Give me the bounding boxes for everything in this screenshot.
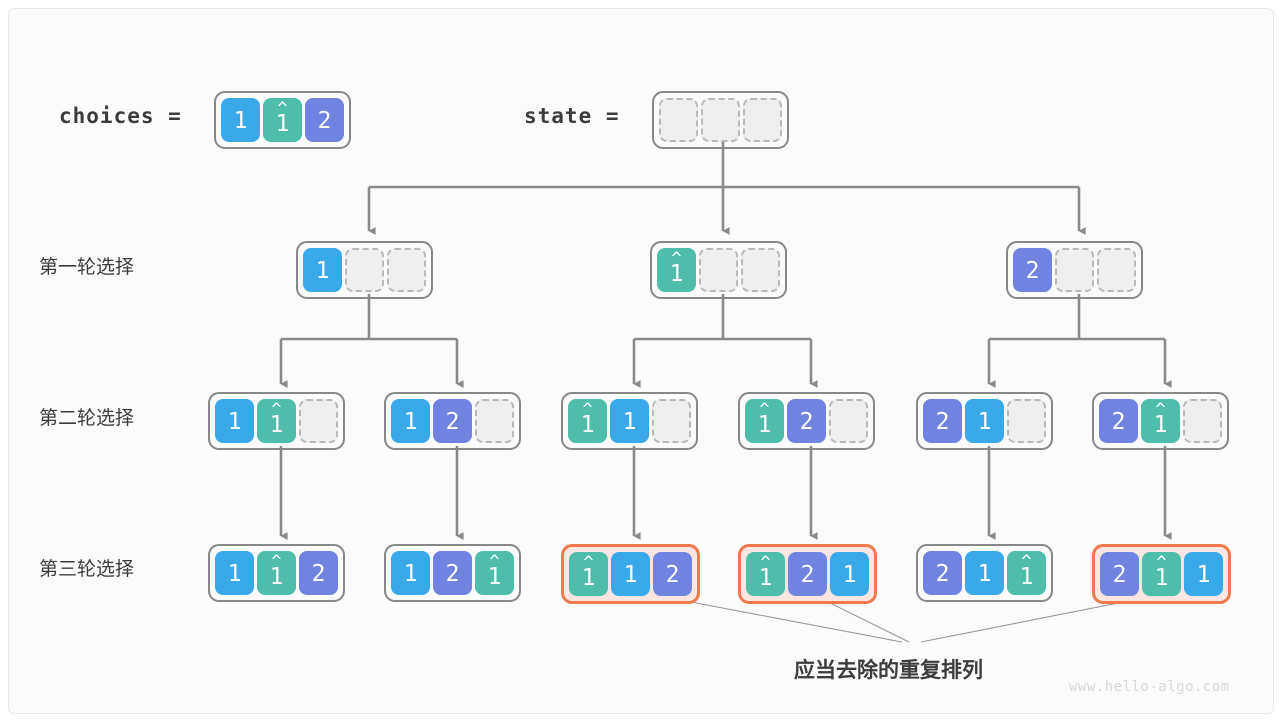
array-cell-value: 2 bbox=[936, 411, 950, 434]
array-cell-hat-1: ^1 bbox=[746, 552, 785, 596]
array-cell-empty bbox=[1097, 248, 1136, 292]
array-cell-1: 1 bbox=[303, 248, 342, 292]
array-cell-value: 1 bbox=[316, 260, 330, 283]
array-cell-value: 2 bbox=[801, 564, 815, 587]
array-cell-empty bbox=[741, 248, 780, 292]
array-cell-empty bbox=[829, 399, 868, 443]
array-cell-value: 1 bbox=[758, 414, 772, 437]
array-cell-hat-1: ^1 bbox=[263, 98, 302, 142]
array-cell-1: 1 bbox=[215, 399, 254, 443]
array-round2-node6[interactable]: 2^1 bbox=[1092, 392, 1229, 450]
array-round3-node6[interactable]: 2^11 bbox=[1092, 544, 1231, 604]
array-cell-value: 1 bbox=[228, 411, 242, 434]
array-round3-node1[interactable]: 1^12 bbox=[208, 544, 345, 602]
array-cell-empty bbox=[659, 98, 698, 142]
array-cell-1: 1 bbox=[965, 551, 1004, 595]
array-cell-1: 1 bbox=[391, 551, 430, 595]
array-cell-value: 1 bbox=[670, 263, 684, 286]
array-cell-empty bbox=[345, 248, 384, 292]
array-cell-1: 1 bbox=[610, 399, 649, 443]
site-watermark: www.hello-algo.com bbox=[1069, 679, 1230, 695]
array-cell-2: 2 bbox=[653, 552, 692, 596]
row-label-round-3: 第三轮选择 bbox=[39, 554, 134, 581]
array-cell-value: 1 bbox=[270, 566, 284, 589]
array-round1-node2[interactable]: ^1 bbox=[650, 241, 787, 299]
array-cell-value: 2 bbox=[312, 563, 326, 586]
array-cell-2: 2 bbox=[787, 399, 826, 443]
array-cell-hat-1: ^1 bbox=[257, 399, 296, 443]
array-cell-value: 2 bbox=[800, 411, 814, 434]
array-cell-2: 2 bbox=[299, 551, 338, 595]
row-label-round-2: 第二轮选择 bbox=[39, 403, 134, 430]
row-label-round-1: 第一轮选择 bbox=[39, 252, 134, 279]
array-round2-node4[interactable]: ^12 bbox=[738, 392, 875, 450]
diagram-canvas: choices = state = 第一轮选择 第二轮选择 第三轮选择 1^12… bbox=[8, 8, 1274, 714]
array-cell-value: 1 bbox=[488, 566, 502, 589]
array-round1-node3[interactable]: 2 bbox=[1006, 241, 1143, 299]
array-cell-hat-1: ^1 bbox=[745, 399, 784, 443]
array-cell-2: 2 bbox=[1099, 399, 1138, 443]
array-cell-value: 1 bbox=[759, 567, 773, 590]
array-cell-value: 1 bbox=[978, 563, 992, 586]
array-round2-node1[interactable]: 1^1 bbox=[208, 392, 345, 450]
array-round1-node1[interactable]: 1 bbox=[296, 241, 433, 299]
array-round3-node4[interactable]: ^121 bbox=[738, 544, 877, 604]
array-choices[interactable]: 1^12 bbox=[214, 91, 351, 149]
array-cell-hat-1: ^1 bbox=[1142, 552, 1181, 596]
array-cell-empty bbox=[1055, 248, 1094, 292]
array-cell-value: 1 bbox=[276, 113, 290, 136]
choices-label: choices = bbox=[59, 104, 182, 128]
array-cell-2: 2 bbox=[1100, 552, 1139, 596]
duplicate-permutation-caption: 应当去除的重复排列 bbox=[794, 654, 983, 684]
callout-leaders bbox=[654, 595, 1159, 642]
array-cell-value: 2 bbox=[1112, 411, 1126, 434]
array-cell-empty bbox=[701, 98, 740, 142]
array-cell-empty bbox=[299, 399, 338, 443]
array-cell-empty bbox=[1183, 399, 1222, 443]
array-cell-hat-1: ^1 bbox=[1007, 551, 1046, 595]
array-round2-node3[interactable]: ^11 bbox=[561, 392, 698, 450]
tree-connectors bbox=[9, 9, 1273, 713]
array-cell-hat-1: ^1 bbox=[1141, 399, 1180, 443]
array-cell-hat-1: ^1 bbox=[568, 399, 607, 443]
array-cell-value: 1 bbox=[404, 411, 418, 434]
array-round3-node2[interactable]: 12^1 bbox=[384, 544, 521, 602]
array-state[interactable] bbox=[652, 91, 789, 149]
array-round2-node2[interactable]: 12 bbox=[384, 392, 521, 450]
array-round3-node3[interactable]: ^112 bbox=[561, 544, 700, 604]
array-cell-value: 2 bbox=[936, 563, 950, 586]
array-cell-value: 2 bbox=[666, 564, 680, 587]
array-cell-empty bbox=[699, 248, 738, 292]
array-cell-value: 1 bbox=[1020, 566, 1034, 589]
array-cell-value: 1 bbox=[843, 564, 857, 587]
array-cell-1: 1 bbox=[221, 98, 260, 142]
array-cell-hat-1: ^1 bbox=[257, 551, 296, 595]
array-cell-value: 2 bbox=[446, 563, 460, 586]
array-cell-value: 1 bbox=[404, 563, 418, 586]
array-cell-1: 1 bbox=[391, 399, 430, 443]
array-cell-empty bbox=[743, 98, 782, 142]
array-cell-value: 2 bbox=[1113, 564, 1127, 587]
array-cell-value: 2 bbox=[446, 411, 460, 434]
array-cell-empty bbox=[475, 399, 514, 443]
array-cell-2: 2 bbox=[433, 399, 472, 443]
array-cell-value: 2 bbox=[318, 110, 332, 133]
array-cell-empty bbox=[652, 399, 691, 443]
array-cell-1: 1 bbox=[965, 399, 1004, 443]
array-cell-hat-1: ^1 bbox=[475, 551, 514, 595]
array-cell-value: 1 bbox=[582, 567, 596, 590]
array-cell-value: 1 bbox=[270, 414, 284, 437]
array-cell-empty bbox=[1007, 399, 1046, 443]
array-cell-2: 2 bbox=[1013, 248, 1052, 292]
array-cell-value: 1 bbox=[1155, 567, 1169, 590]
array-cell-value: 1 bbox=[581, 414, 595, 437]
array-cell-2: 2 bbox=[433, 551, 472, 595]
array-round2-node5[interactable]: 21 bbox=[916, 392, 1053, 450]
array-cell-value: 1 bbox=[228, 563, 242, 586]
array-cell-2: 2 bbox=[305, 98, 344, 142]
state-label: state = bbox=[524, 104, 620, 128]
array-cell-value: 2 bbox=[1026, 260, 1040, 283]
array-cell-1: 1 bbox=[215, 551, 254, 595]
array-cell-value: 1 bbox=[978, 411, 992, 434]
array-cell-1: 1 bbox=[1184, 552, 1223, 596]
array-cell-2: 2 bbox=[923, 551, 962, 595]
array-cell-value: 1 bbox=[1154, 414, 1168, 437]
array-round3-node5[interactable]: 21^1 bbox=[916, 544, 1053, 602]
array-cell-value: 1 bbox=[234, 110, 248, 133]
array-cell-value: 1 bbox=[623, 411, 637, 434]
array-cell-empty bbox=[387, 248, 426, 292]
array-cell-hat-1: ^1 bbox=[657, 248, 696, 292]
array-cell-1: 1 bbox=[830, 552, 869, 596]
array-cell-value: 1 bbox=[1197, 564, 1211, 587]
array-cell-2: 2 bbox=[788, 552, 827, 596]
array-cell-value: 1 bbox=[624, 564, 638, 587]
array-cell-1: 1 bbox=[611, 552, 650, 596]
array-cell-2: 2 bbox=[923, 399, 962, 443]
array-cell-hat-1: ^1 bbox=[569, 552, 608, 596]
